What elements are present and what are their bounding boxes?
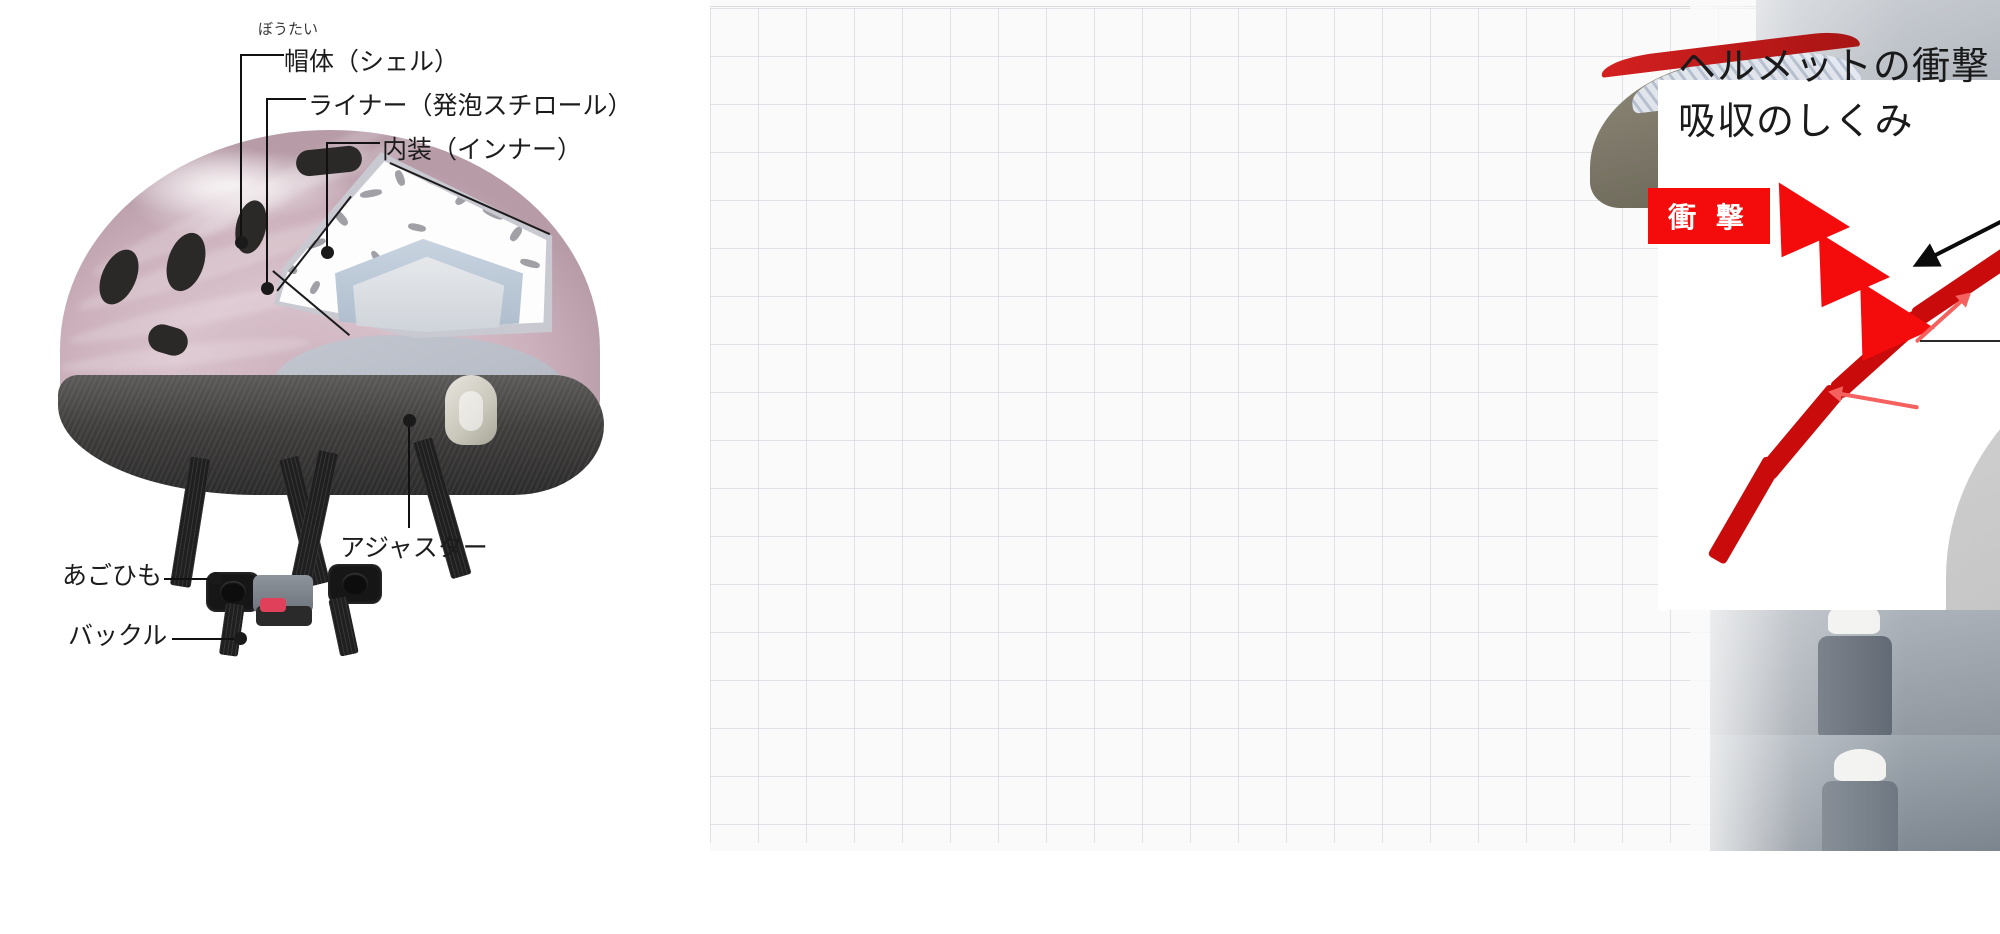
liner-leader-v (266, 98, 268, 290)
helmet-adjuster (445, 375, 497, 445)
panel-title: ヘルメットの衝撃吸収のしくみ (1678, 35, 2000, 145)
inner-leader-h (326, 142, 380, 144)
chinstrap-anchor-dot (209, 572, 222, 585)
impact-absorption-panel: ヘルメットの衝撃吸収のしくみ 衝 撃 シェル 頭部 シェルが 衝撃を分散 衝撃吸… (710, 0, 2000, 851)
helmet-cutaway (265, 140, 555, 340)
buckle-leader (172, 638, 238, 640)
impact-badge-label: 衝 撃 (1648, 188, 1770, 244)
buckle-label: バックル (68, 616, 167, 652)
inner-label: 内装（インナー） (382, 130, 582, 166)
strap-right-lower (328, 596, 359, 657)
impact-badge: 衝 撃 (1648, 188, 1770, 244)
chinstrap-leader (164, 578, 212, 580)
helmet-illustration (40, 120, 620, 680)
liner-label: ライナー（発泡スチロール） (308, 86, 633, 122)
inner-anchor-dot (321, 246, 334, 259)
helmet-parts-panel: ぼうたい 帽体（シェル） ライナー（発泡スチロール） 内装（インナー） アジャス… (0, 0, 710, 851)
adjuster-leader-v (408, 420, 410, 528)
shell-leader-h (240, 54, 284, 56)
impact-diagram (1658, 80, 2000, 610)
shell-ruby: ぼうたい (258, 18, 318, 39)
buckle-release (260, 598, 286, 612)
inner-leader-v (326, 142, 328, 252)
adjuster-anchor-dot (403, 414, 416, 427)
head-leader-line (1920, 340, 2000, 342)
adjuster-label: アジャスター (340, 528, 488, 564)
shell-label: 帽体（シェル） (284, 42, 459, 78)
buckle-anchor-dot (234, 632, 247, 645)
shell-leader-v (240, 54, 242, 241)
shell-anchor-dot (235, 236, 248, 249)
slide-canvas: ぼうたい 帽体（シェル） ライナー（発泡スチロール） 内装（インナー） アジャス… (0, 0, 2000, 851)
liner-anchor-dot (261, 282, 274, 295)
liner-leader-h (266, 98, 306, 100)
chinstrap-label: あごひも (62, 556, 162, 592)
